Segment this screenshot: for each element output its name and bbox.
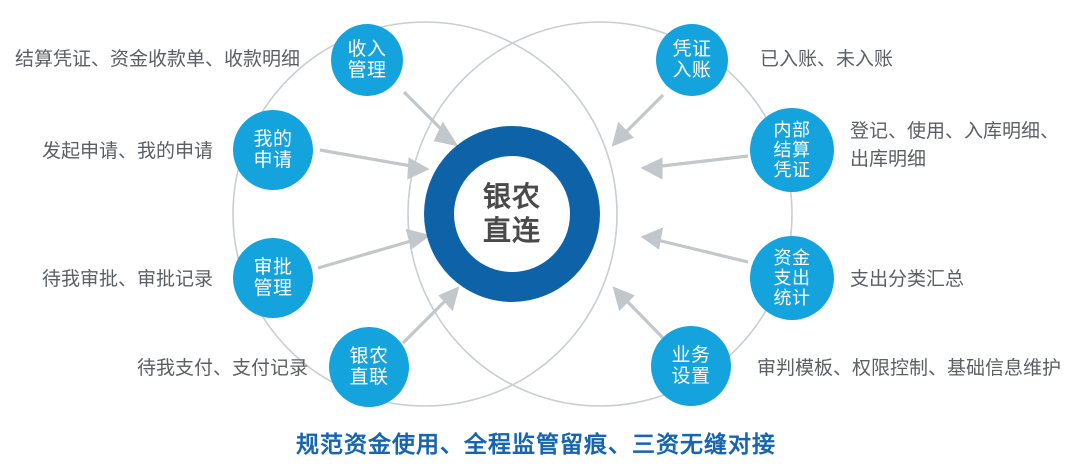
node-internal-settlement-voucher-line-3: 凭证 [774, 160, 811, 180]
center-hub-label: 银农 直连 [454, 156, 570, 272]
diagram-canvas: 银农 直连 收入 管理 我的 申请 审批 管理 银农 直联 凭证 入账 内部 结… [0, 0, 1072, 471]
node-business-settings[interactable]: 业务 设置 [651, 326, 731, 406]
label-approval-management-line-1: 待我审批、审批记录 [42, 269, 213, 290]
node-approval-management-line-2: 管理 [253, 278, 292, 299]
node-income-management-line-2: 管理 [347, 60, 386, 81]
label-approval-management: 待我审批、审批记录 [0, 266, 213, 294]
center-hub-line-2: 直连 [483, 214, 541, 248]
label-internal-settlement-voucher: 登记、使用、入库明细、 出库明细 [850, 118, 1059, 173]
label-bank-farm-direct: 待我支付、支付记录 [0, 355, 308, 383]
center-hub-line-1: 银农 [483, 180, 541, 214]
label-bank-farm-direct-line-1: 待我支付、支付记录 [137, 358, 308, 379]
node-business-settings-line-1: 业务 [671, 345, 710, 366]
center-hub: 银农 直连 [424, 126, 600, 302]
label-internal-settlement-voucher-line-2: 出库明细 [850, 146, 1059, 174]
label-fund-expenditure-statistics: 支出分类汇总 [850, 266, 964, 294]
node-internal-settlement-voucher[interactable]: 内部 结算 凭证 [750, 108, 834, 192]
node-fund-expenditure-statistics-line-2: 支出 [774, 268, 811, 288]
node-approval-management[interactable]: 审批 管理 [233, 238, 313, 318]
label-internal-settlement-voucher-line-1: 登记、使用、入库明细、 [850, 121, 1059, 142]
label-my-application-line-1: 发起申请、我的申请 [42, 141, 213, 162]
arrow-head-approval-management [408, 231, 427, 247]
node-business-settings-line-2: 设置 [671, 366, 710, 387]
node-voucher-posting-line-2: 入账 [672, 60, 711, 81]
node-fund-expenditure-statistics[interactable]: 资金 支出 统计 [750, 236, 834, 320]
label-voucher-posting-line-1: 已入账、未入账 [760, 49, 893, 70]
node-voucher-posting[interactable]: 凭证 入账 [656, 24, 728, 96]
node-voucher-posting-line-1: 凭证 [672, 39, 711, 60]
label-income-management-line-1: 结算凭证、资金收款单、收款明细 [15, 49, 300, 70]
node-fund-expenditure-statistics-line-3: 统计 [774, 288, 811, 308]
arrow-line-internal-settlement-voucher [653, 156, 748, 167]
node-internal-settlement-voucher-line-2: 结算 [774, 140, 811, 160]
arrow-line-voucher-posting [621, 95, 663, 137]
node-my-application-line-2: 申请 [253, 150, 292, 171]
arrow-head-bank-farm-direct [441, 289, 457, 308]
label-fund-expenditure-statistics-line-1: 支出分类汇总 [850, 269, 964, 290]
label-income-management: 结算凭证、资金收款单、收款明细 [0, 46, 300, 74]
node-income-management[interactable]: 收入 管理 [331, 24, 403, 96]
arrow-line-business-settings [622, 296, 665, 340]
label-business-settings: 审判模板、权限控制、基础信息维护 [757, 355, 1061, 383]
node-approval-management-line-1: 审批 [253, 257, 292, 278]
arrow-line-bank-farm-direct [403, 296, 450, 343]
node-bank-farm-direct[interactable]: 银农 直联 [329, 327, 409, 407]
arrow-line-fund-expenditure-statistics [653, 239, 748, 262]
label-voucher-posting: 已入账、未入账 [760, 46, 893, 74]
diagram-caption: 规范资金使用、全程监管留痕、三资无缝对接 [0, 425, 1072, 459]
node-my-application-line-1: 我的 [253, 129, 292, 150]
label-my-application: 发起申请、我的申请 [0, 138, 213, 166]
arrow-head-my-application [409, 160, 426, 177]
node-bank-farm-direct-line-1: 银农 [349, 346, 388, 367]
arrow-head-fund-expenditure-statistics [644, 230, 661, 247]
node-fund-expenditure-statistics-line-1: 资金 [774, 248, 811, 268]
arrow-line-my-application [320, 150, 417, 167]
node-my-application[interactable]: 我的 申请 [233, 110, 313, 190]
node-income-management-line-1: 收入 [347, 39, 386, 60]
node-internal-settlement-voucher-line-1: 内部 [774, 120, 811, 140]
label-business-settings-line-1: 审判模板、权限控制、基础信息维护 [757, 358, 1061, 379]
arrow-line-approval-management [318, 239, 418, 268]
arrow-head-internal-settlement-voucher [644, 160, 661, 177]
node-bank-farm-direct-line-2: 直联 [349, 367, 388, 388]
